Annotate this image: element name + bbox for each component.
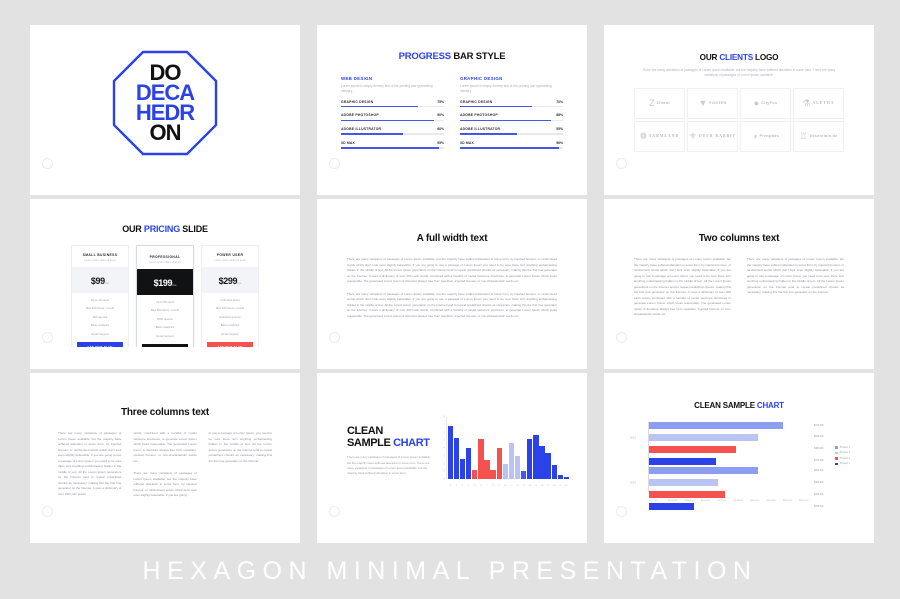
plan-price: $99 bbox=[91, 276, 105, 286]
progress-item: ADOBE PHOTOSHOP88% bbox=[460, 113, 563, 121]
chart-bar bbox=[521, 471, 526, 479]
client-logo-cell[interactable]: ◑Primpass bbox=[740, 121, 791, 152]
x-axis-tick-label: 8 bbox=[490, 485, 495, 487]
legend-label: Product 3 bbox=[840, 451, 850, 454]
client-mark-icon: ♖ bbox=[799, 131, 807, 142]
progress-item: ADOBE ILLUSTRATOR55% bbox=[460, 127, 563, 135]
x-axis-tick-label: 20 bbox=[564, 485, 569, 487]
y-axis-tick-label: 6 bbox=[443, 431, 444, 434]
plan-feature: Email support bbox=[202, 327, 258, 336]
chart-bar bbox=[466, 448, 471, 479]
progress-label: ADOBE ILLUSTRATOR bbox=[341, 127, 381, 131]
progress-item: ADOBE ILLUSTRATOR60% bbox=[341, 127, 444, 135]
paragraph: There are many variations of passages of… bbox=[634, 257, 731, 318]
category-label: 2014 bbox=[630, 482, 636, 485]
x-axis-tick-label: 3 bbox=[460, 485, 465, 487]
slide-canvas: CLEAN SAMPLE CHART 2013$740,000$600,000$… bbox=[612, 381, 866, 521]
octagon-outline-icon: DO DECA HEDR ON bbox=[111, 49, 219, 157]
plan-feature: Basic analytics bbox=[72, 319, 128, 328]
bar-group: 2013$740,000$600,000$480,000$370,000 bbox=[649, 422, 812, 454]
progress-item: GRAPHIC DESIGN75% bbox=[341, 100, 444, 108]
y-axis-tick-label: 5 bbox=[443, 439, 444, 442]
progress-percent: 60% bbox=[437, 127, 444, 131]
progress-percent: 55% bbox=[556, 127, 563, 131]
column-heading: GRAPHIC DESIGN bbox=[460, 76, 563, 81]
paragraph: to use a passage of Lorem Ipsum, you nee… bbox=[209, 431, 272, 464]
chart-bar bbox=[460, 459, 465, 479]
x-axis-tick-label: 2 bbox=[454, 485, 459, 487]
chart-bar: $600,000 bbox=[649, 434, 812, 441]
chart-bar bbox=[545, 453, 550, 479]
x-axis-tick-label: $800,000 bbox=[779, 500, 795, 502]
x-axis-tick-label: $300,000 bbox=[697, 500, 713, 502]
title-lead: CLEAN SAMPLE bbox=[694, 401, 757, 410]
column-description: Lorem ipsum is simply dummy text of the … bbox=[341, 84, 444, 94]
chart-bar: $480,000 bbox=[649, 446, 812, 453]
chart-slide-layout: CLEAN SAMPLE CHART There are many variat… bbox=[325, 381, 579, 521]
client-name: Essentials.de bbox=[809, 134, 837, 138]
bar-fill: $420,000 bbox=[649, 491, 725, 498]
plan-period: /mo bbox=[105, 282, 109, 285]
x-axis-tick-label: 19 bbox=[558, 485, 563, 487]
page-title: CLEAN SAMPLE CHART bbox=[612, 401, 866, 410]
client-logo-grid: ZZilient ▼FOSTER ●CityFox ⚗ALETHA ❁FARML… bbox=[634, 88, 844, 152]
plan-name: POWER USER bbox=[202, 246, 258, 257]
plan-tagline: Lorem ipsum dolor sit amet bbox=[137, 259, 193, 264]
slide-thumbnail-progress-bar[interactable]: PROGRESS BAR STYLE WEB DESIGN Lorem ipsu… bbox=[317, 25, 587, 195]
x-axis-tick-label: 13 bbox=[521, 485, 526, 487]
page-title: PROGRESS BAR STYLE bbox=[325, 51, 579, 62]
bar-fill: $380,000 bbox=[649, 479, 718, 486]
slide-canvas: OUR CLIENTS LOGO There are many variatio… bbox=[612, 33, 866, 173]
chart-bar bbox=[472, 470, 477, 479]
client-name: FOSTER bbox=[709, 101, 726, 105]
chart-bar bbox=[503, 464, 508, 479]
progress-percent: 70% bbox=[556, 100, 563, 104]
progress-track bbox=[341, 120, 444, 122]
logo-line-4: ON bbox=[150, 123, 181, 143]
plan-feature: Unlimited queries bbox=[202, 310, 258, 319]
plan-feature: 5000 queries bbox=[137, 312, 193, 321]
progress-percent: 90% bbox=[437, 113, 444, 117]
plan-price-band: $299/mo bbox=[202, 267, 258, 293]
bar-fill: $740,000 bbox=[649, 422, 783, 429]
plan-tagline: Lorem ipsum dolor sit amet bbox=[202, 257, 258, 262]
slide-thumbnail-column-chart[interactable]: CLEAN SAMPLE CHART There are many variat… bbox=[317, 373, 587, 543]
pricing-card-small-business[interactable]: SMALL BUSINESS Lorem ipsum dolor sit ame… bbox=[71, 245, 129, 347]
x-axis-tick-label: 7 bbox=[484, 485, 489, 487]
x-axis-tick-label: $400,000 bbox=[714, 500, 730, 502]
x-axis-tick-label: 6 bbox=[478, 485, 483, 487]
x-axis-tick-label: 15 bbox=[533, 485, 538, 487]
pricing-card-power-user[interactable]: POWER USER Lorem ipsum dolor sit amet $2… bbox=[201, 245, 259, 347]
plan-tagline: Lorem ipsum dolor sit amet bbox=[72, 257, 128, 262]
title-line-2-lead: SAMPLE bbox=[347, 437, 393, 449]
slide-thumbnail-bar-chart[interactable]: CLEAN SAMPLE CHART 2013$740,000$600,000$… bbox=[604, 373, 874, 543]
title-accent: CLIENTS bbox=[719, 53, 753, 62]
progress-percent: 96% bbox=[556, 141, 563, 145]
x-axis-ticks: 1234567891011121314151617181920 bbox=[448, 485, 569, 487]
legend-label: Product 2 bbox=[840, 457, 850, 460]
progress-track bbox=[460, 106, 563, 108]
page-title: A full width text bbox=[325, 233, 579, 244]
text-body: There are many variations of passages of… bbox=[325, 244, 579, 319]
slide-corner-marker bbox=[329, 506, 340, 517]
bar-value-label: $480,000 bbox=[814, 448, 824, 450]
legend-item[interactable]: Product 4 bbox=[835, 446, 850, 449]
plan-feature: Up to 50 users bbox=[137, 295, 193, 304]
progress-fill bbox=[460, 106, 532, 108]
slide-canvas: Three columns text There are many variat… bbox=[38, 381, 292, 521]
x-axis-tick-label: 4 bbox=[466, 485, 471, 487]
y-axis-tick-label: 3 bbox=[443, 454, 444, 457]
progress-label: GRAPHIC DESIGN bbox=[341, 100, 373, 104]
chart-bar: $420,000 bbox=[649, 491, 812, 498]
chart-bar bbox=[478, 439, 483, 479]
chart-legend: Product 4Product 3Product 2Product 1 bbox=[835, 446, 850, 468]
chart-bar bbox=[564, 477, 569, 479]
x-axis-tick-label: 17 bbox=[545, 485, 550, 487]
bar-value-label: $600,000 bbox=[814, 436, 824, 438]
text-column: There are many variations of passages of… bbox=[747, 257, 844, 318]
client-mark-icon: ◑ bbox=[752, 131, 757, 141]
slide-thumbnail-full-width-text[interactable]: A full width text There are many variati… bbox=[317, 199, 587, 369]
slide-canvas: A full width text There are many variati… bbox=[325, 207, 579, 347]
client-logo-cell[interactable]: ▼FOSTER bbox=[687, 88, 738, 119]
y-axis-tick-label: 1 bbox=[443, 470, 444, 473]
chart-bar bbox=[484, 460, 489, 479]
text-column: There are many variations of passages of… bbox=[58, 431, 121, 499]
progress-item: 3D MAX95% bbox=[341, 141, 444, 149]
paragraph: There are many variations of passages of… bbox=[747, 257, 844, 296]
progress-fill bbox=[460, 120, 551, 122]
chart-bar bbox=[533, 435, 538, 479]
progress-percent: 95% bbox=[437, 141, 444, 145]
title-accent: PRICING bbox=[144, 224, 180, 234]
y-axis-tick-label: 7 bbox=[443, 423, 444, 426]
slide-thumbnail-clients-logo[interactable]: OUR CLIENTS LOGO There are many variatio… bbox=[604, 25, 874, 195]
category-label: 2013 bbox=[630, 437, 636, 440]
chart-bar bbox=[509, 443, 514, 479]
client-mark-icon: ▼ bbox=[698, 98, 707, 108]
bar-fill: $370,000 bbox=[649, 458, 716, 465]
paragraph: There are many variations of passages of… bbox=[133, 471, 196, 499]
text-columns: There are many variations of passages of… bbox=[38, 418, 292, 499]
bar-fill: $480,000 bbox=[649, 446, 736, 453]
client-logo-cell[interactable]: ♖Essentials.de bbox=[793, 121, 844, 152]
progress-fill bbox=[341, 133, 403, 135]
plan-period: /mo bbox=[237, 282, 241, 285]
x-axis-tick-label: 5 bbox=[472, 485, 477, 487]
get-this-plan-button[interactable]: GET THIS PLAN bbox=[207, 342, 253, 348]
plan-feature: Max 500 items / month bbox=[137, 304, 193, 313]
progress-percent: 88% bbox=[556, 113, 563, 117]
plan-feature: Email support bbox=[137, 329, 193, 338]
x-axis-tick-label: $200,000 bbox=[681, 500, 697, 502]
chart-description: There are many variations of passages of… bbox=[347, 455, 432, 476]
progress-track bbox=[341, 133, 444, 135]
x-axis-tick-label: 18 bbox=[552, 485, 557, 487]
text-column: words, combined with a handful of model … bbox=[133, 431, 196, 499]
progress-track bbox=[460, 133, 563, 135]
chart-bar bbox=[552, 465, 557, 479]
plan-feature: Max 100 items / month bbox=[202, 302, 258, 311]
plan-feature: Basic analytics bbox=[137, 321, 193, 330]
footer-title: HEXAGON MINIMAL PRESENTATION bbox=[143, 557, 758, 586]
logo-wordmark: DO DECA HEDR ON bbox=[111, 49, 219, 157]
get-this-plan-button[interactable]: GET THIS PLAN bbox=[77, 342, 123, 348]
progress-label: ADOBE PHOTOSHOP bbox=[460, 113, 498, 117]
progress-columns: WEB DESIGN Lorem ipsum is simply dummy t… bbox=[325, 62, 579, 149]
progress-item: 3D MAX96% bbox=[460, 141, 563, 149]
progress-track bbox=[460, 147, 563, 149]
plan-period: /mo bbox=[172, 284, 176, 287]
progress-item: ADOBE PHOTOSHOP90% bbox=[341, 113, 444, 121]
client-name: Zilient bbox=[657, 101, 670, 105]
slide-canvas: DO DECA HEDR ON bbox=[38, 33, 292, 173]
text-column: to use a passage of Lorem Ipsum, you nee… bbox=[209, 431, 272, 499]
progress-column-graphic-design: GRAPHIC DESIGN Lorem ipsum is simply dum… bbox=[460, 76, 563, 149]
bar-value-label: $250,000 bbox=[814, 506, 824, 508]
chart-bar bbox=[454, 438, 459, 479]
paragraph: There are many variations of passages of… bbox=[347, 257, 557, 285]
client-logo-cell[interactable]: ⚗ALETHA bbox=[793, 88, 844, 119]
footer: HEXAGON MINIMAL PRESENTATION bbox=[0, 543, 900, 599]
bar-value-label: $370,000 bbox=[814, 460, 824, 462]
plan-feature: Up to 10 users bbox=[72, 293, 128, 302]
y-axis-tick-label: 0 bbox=[443, 478, 444, 481]
paragraph: words, combined with a handful of model … bbox=[133, 431, 196, 464]
progress-percent: 75% bbox=[437, 100, 444, 104]
slide-corner-marker bbox=[42, 332, 53, 343]
bar-chart: 2013$740,000$600,000$480,000$370,0002014… bbox=[622, 420, 856, 506]
bar-fill: $600,000 bbox=[649, 434, 758, 441]
title-accent: CHART bbox=[393, 437, 430, 449]
progress-track bbox=[460, 120, 563, 122]
chart-bar bbox=[539, 446, 544, 479]
pricing-card-professional[interactable]: PROFESSIONAL Lorem ipsum dolor sit amet … bbox=[136, 245, 194, 347]
chart-bar bbox=[558, 475, 563, 479]
x-axis-tick-label: 1 bbox=[448, 485, 453, 487]
column-description: Lorem ipsum is simply dummy text of the … bbox=[460, 84, 563, 94]
slide-corner-marker bbox=[329, 158, 340, 169]
client-logo-cell[interactable]: ❁FARMLAND bbox=[634, 121, 685, 152]
client-mark-icon: ● bbox=[754, 98, 759, 108]
slide-corner-marker bbox=[329, 332, 340, 343]
slide-corner-marker bbox=[616, 506, 627, 517]
progress-fill bbox=[460, 133, 517, 135]
progress-label: ADOBE ILLUSTRATOR bbox=[460, 127, 500, 131]
chart-plot-area: 012345678 123456789101112131415161718192… bbox=[446, 417, 569, 479]
plan-feature: Unlimited users bbox=[202, 293, 258, 302]
title-tail: SLIDE bbox=[180, 224, 208, 234]
client-name: ALETHA bbox=[813, 101, 835, 105]
chart-bar: $250,000 bbox=[649, 503, 812, 510]
slide-thumbnail-pricing[interactable]: OUR PRICING SLIDE SMALL BUSINESS Lorem i… bbox=[30, 199, 300, 369]
title-lead: OUR bbox=[122, 224, 144, 234]
client-mark-icon: Z bbox=[649, 98, 655, 108]
column-chart: 012345678 123456789101112131415161718192… bbox=[432, 411, 579, 491]
title-line-1: CLEAN bbox=[347, 425, 383, 437]
bar-value-label: $420,000 bbox=[814, 494, 824, 496]
page-title: OUR PRICING SLIDE bbox=[38, 224, 292, 234]
title-lead: OUR bbox=[700, 53, 720, 62]
client-mark-icon: ⚜ bbox=[689, 131, 697, 142]
bar-value-label: $600,000 bbox=[814, 470, 824, 472]
client-logo-cell[interactable]: ⚜DEER RABBIT bbox=[687, 121, 738, 152]
x-axis-tick-label: $700,000 bbox=[763, 500, 779, 502]
slide-corner-marker bbox=[42, 506, 53, 517]
x-axis-tick-label: $500,000 bbox=[730, 500, 746, 502]
x-axis-tick-label: $100,000 bbox=[664, 500, 680, 502]
plan-name: SMALL BUSINESS bbox=[72, 246, 128, 257]
client-name: CityFox bbox=[761, 101, 777, 105]
chart-bar bbox=[515, 456, 520, 479]
progress-fill bbox=[341, 147, 439, 149]
bar-value-label: $380,000 bbox=[814, 482, 824, 484]
progress-fill bbox=[460, 147, 559, 149]
plan-feature: Basic analytics bbox=[202, 319, 258, 328]
slide-canvas: OUR PRICING SLIDE SMALL BUSINESS Lorem i… bbox=[38, 207, 292, 347]
x-axis-ticks: $0$100,000$200,000$300,000$400,000$500,0… bbox=[648, 500, 812, 502]
progress-fill bbox=[341, 120, 434, 122]
legend-swatch bbox=[835, 463, 838, 466]
client-name: Primpass bbox=[759, 134, 779, 138]
text-column: There are many variations of passages of… bbox=[634, 257, 731, 318]
bar-fill: $250,000 bbox=[649, 503, 694, 510]
progress-label: 3D MAX bbox=[460, 141, 474, 145]
x-axis-tick-label: 12 bbox=[515, 485, 520, 487]
progress-column-web-design: WEB DESIGN Lorem ipsum is simply dummy t… bbox=[341, 76, 444, 149]
client-mark-icon: ⚗ bbox=[802, 98, 810, 109]
progress-label: GRAPHIC DESIGN bbox=[460, 100, 492, 104]
slide-thumbnail-three-columns-text[interactable]: Three columns text There are many variat… bbox=[30, 373, 300, 543]
y-axis-ticks: 012345678 bbox=[438, 417, 446, 479]
pricing-cards: SMALL BUSINESS Lorem ipsum dolor sit ame… bbox=[38, 245, 292, 347]
slide-corner-marker bbox=[42, 158, 53, 169]
client-logo-cell[interactable]: ●CityFox bbox=[740, 88, 791, 119]
x-axis-tick-label: 11 bbox=[509, 485, 514, 487]
text-columns: There are many variations of passages of… bbox=[612, 244, 866, 318]
progress-item: GRAPHIC DESIGN70% bbox=[460, 100, 563, 108]
legend-swatch bbox=[835, 452, 838, 455]
chart-bar: $600,000 bbox=[649, 467, 812, 474]
page-title: OUR CLIENTS LOGO bbox=[612, 53, 866, 62]
plan-name: PROFESSIONAL bbox=[137, 248, 193, 259]
y-axis-tick-label: 2 bbox=[443, 462, 444, 465]
x-axis-tick-label: $600,000 bbox=[746, 500, 762, 502]
y-axis-tick-label: 4 bbox=[443, 447, 444, 450]
chart-text-block: CLEAN SAMPLE CHART There are many variat… bbox=[325, 426, 432, 477]
plan-feature: 500 queries bbox=[72, 310, 128, 319]
page-title: Three columns text bbox=[38, 407, 292, 418]
plan-price: $299 bbox=[219, 276, 237, 286]
legend-item[interactable]: Product 2 bbox=[835, 457, 850, 460]
title-accent: CHART bbox=[757, 401, 784, 410]
slide-canvas: PROGRESS BAR STYLE WEB DESIGN Lorem ipsu… bbox=[325, 33, 579, 173]
client-mark-icon: ❁ bbox=[640, 131, 648, 142]
x-axis-tick-label: 9 bbox=[497, 485, 502, 487]
y-axis-line bbox=[446, 417, 447, 479]
slide-canvas: CLEAN SAMPLE CHART There are many variat… bbox=[325, 381, 579, 521]
slide-thumbnail-two-columns-text[interactable]: Two columns text There are many variatio… bbox=[604, 199, 874, 369]
plan-price: $199 bbox=[154, 278, 172, 288]
legend-label: Product 1 bbox=[840, 462, 850, 465]
slide-thumbnail-logo[interactable]: DO DECA HEDR ON bbox=[30, 25, 300, 195]
plan-price-band: $199/mo bbox=[137, 269, 193, 295]
slide-description: There are many variations of passages of… bbox=[612, 62, 866, 79]
y-axis-tick-label: 8 bbox=[443, 416, 444, 419]
progress-track bbox=[341, 106, 444, 108]
slide-corner-marker bbox=[616, 332, 627, 343]
plan-feature: Email support bbox=[72, 327, 128, 336]
client-name: DEER RABBIT bbox=[699, 134, 736, 138]
progress-label: 3D MAX bbox=[341, 141, 355, 145]
x-axis-tick-label: 16 bbox=[539, 485, 544, 487]
plan-feature: Max 100 items / month bbox=[72, 302, 128, 311]
page-title: CLEAN SAMPLE CHART bbox=[347, 426, 432, 450]
chart-bar: $370,000 bbox=[649, 458, 812, 465]
title-tail: LOGO bbox=[753, 53, 778, 62]
legend-swatch bbox=[835, 446, 838, 449]
progress-track bbox=[341, 147, 444, 149]
brand-logo: DO DECA HEDR ON bbox=[38, 33, 292, 173]
page-title: Two columns text bbox=[612, 233, 866, 244]
get-this-plan-button[interactable]: GET THIS PLAN bbox=[142, 344, 188, 348]
chart-bar bbox=[497, 448, 502, 479]
chart-bar bbox=[527, 439, 532, 479]
chart-bar bbox=[490, 470, 495, 479]
chart-bar: $380,000 bbox=[649, 479, 812, 486]
client-logo-cell[interactable]: ZZilient bbox=[634, 88, 685, 119]
paragraph: There are many variations of passages of… bbox=[347, 292, 557, 320]
progress-fill bbox=[341, 106, 418, 108]
chart-bar: $740,000 bbox=[649, 422, 812, 429]
chart-bars bbox=[448, 417, 569, 479]
presentation-thumbnail-board: DO DECA HEDR ON PROGRESS BAR STYLE bbox=[0, 0, 900, 599]
slide-grid: DO DECA HEDR ON PROGRESS BAR STYLE bbox=[0, 0, 900, 543]
legend-label: Product 4 bbox=[840, 446, 850, 449]
progress-label: ADOBE PHOTOSHOP bbox=[341, 113, 379, 117]
x-axis-tick-label: 10 bbox=[503, 485, 508, 487]
legend-item[interactable]: Product 3 bbox=[835, 451, 850, 454]
paragraph: There are many variations of passages of… bbox=[58, 431, 121, 498]
slide-corner-marker bbox=[616, 158, 627, 169]
plan-price-band: $99/mo bbox=[72, 267, 128, 293]
x-axis-tick-label: $0 bbox=[648, 500, 664, 502]
title-accent: PROGRESS bbox=[399, 51, 451, 62]
x-axis-tick-label: $900,000 bbox=[796, 500, 812, 502]
chart-bar bbox=[448, 426, 453, 479]
bar-value-label: $740,000 bbox=[814, 425, 824, 427]
x-axis-tick-label: 14 bbox=[527, 485, 532, 487]
bar-group: 2014$600,000$380,000$420,000$250,000 bbox=[649, 467, 812, 499]
legend-item[interactable]: Product 1 bbox=[835, 462, 850, 465]
title-rest: BAR STYLE bbox=[451, 51, 505, 62]
legend-swatch bbox=[835, 457, 838, 460]
column-heading: WEB DESIGN bbox=[341, 76, 444, 81]
chart-plot-area: 2013$740,000$600,000$480,000$370,0002014… bbox=[648, 422, 812, 492]
bar-fill: $600,000 bbox=[649, 467, 758, 474]
slide-canvas: Two columns text There are many variatio… bbox=[612, 207, 866, 347]
client-name: FARMLAND bbox=[649, 134, 679, 138]
